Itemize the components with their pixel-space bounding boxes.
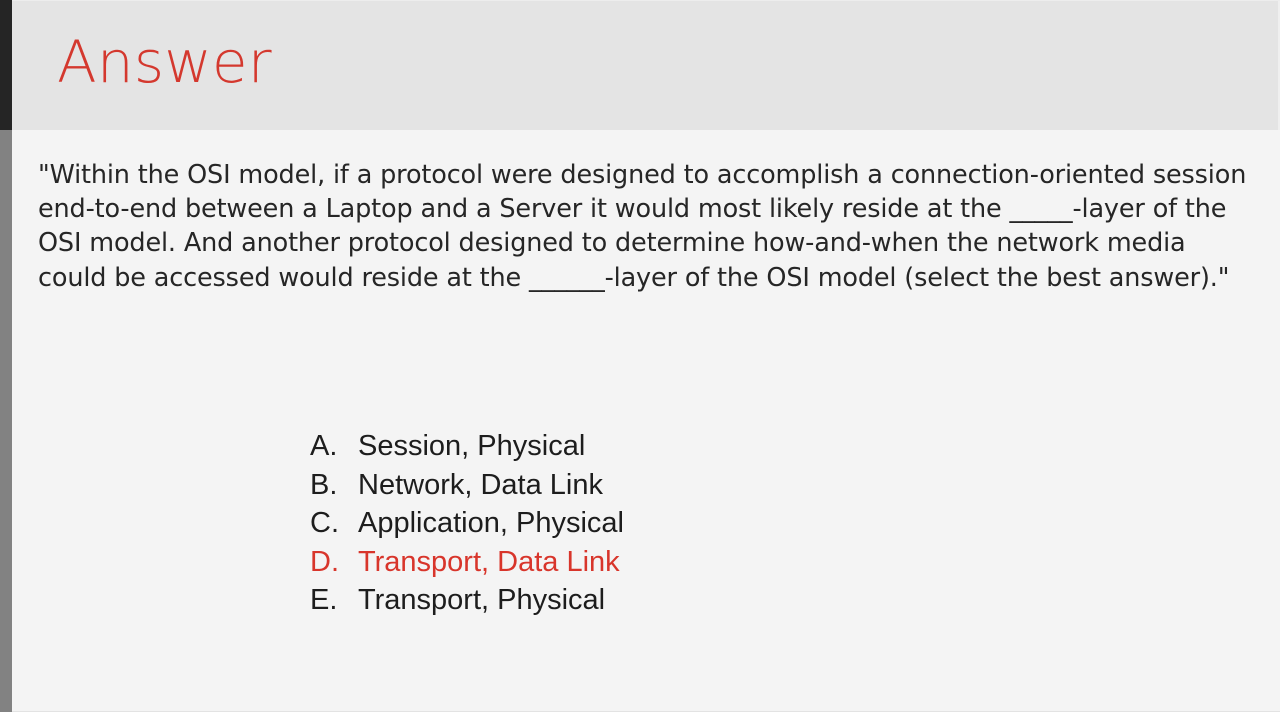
answer-option-e[interactable]: E. Transport, Physical (310, 584, 624, 623)
option-letter-e: E. (310, 584, 358, 617)
presentation-slide: Answer "Within the OSI model, if a proto… (0, 0, 1280, 720)
option-text-b: Network, Data Link (358, 469, 603, 502)
option-letter-c: C. (310, 507, 358, 540)
option-text-c: Application, Physical (358, 507, 624, 540)
option-text-d: Transport, Data Link (358, 546, 620, 579)
question-text: "Within the OSI model, if a protocol wer… (38, 158, 1253, 295)
slide-body: "Within the OSI model, if a protocol wer… (12, 130, 1280, 712)
answer-option-b[interactable]: B. Network, Data Link (310, 469, 624, 508)
option-text-e: Transport, Physical (358, 584, 605, 617)
left-accent-bar-bottom (0, 130, 12, 712)
option-letter-a: A. (310, 430, 358, 463)
left-accent-bar-top (0, 0, 12, 130)
option-letter-d: D. (310, 546, 358, 579)
answer-options-list: A. Session, Physical B. Network, Data Li… (310, 430, 624, 623)
slide-header: Answer (12, 0, 1280, 130)
page-title: Answer (57, 29, 272, 96)
answer-option-d[interactable]: D. Transport, Data Link (310, 546, 624, 585)
footer-bottom-band (0, 712, 1280, 720)
option-letter-b: B. (310, 469, 358, 502)
option-text-a: Session, Physical (358, 430, 585, 463)
answer-option-a[interactable]: A. Session, Physical (310, 430, 624, 469)
answer-option-c[interactable]: C. Application, Physical (310, 507, 624, 546)
